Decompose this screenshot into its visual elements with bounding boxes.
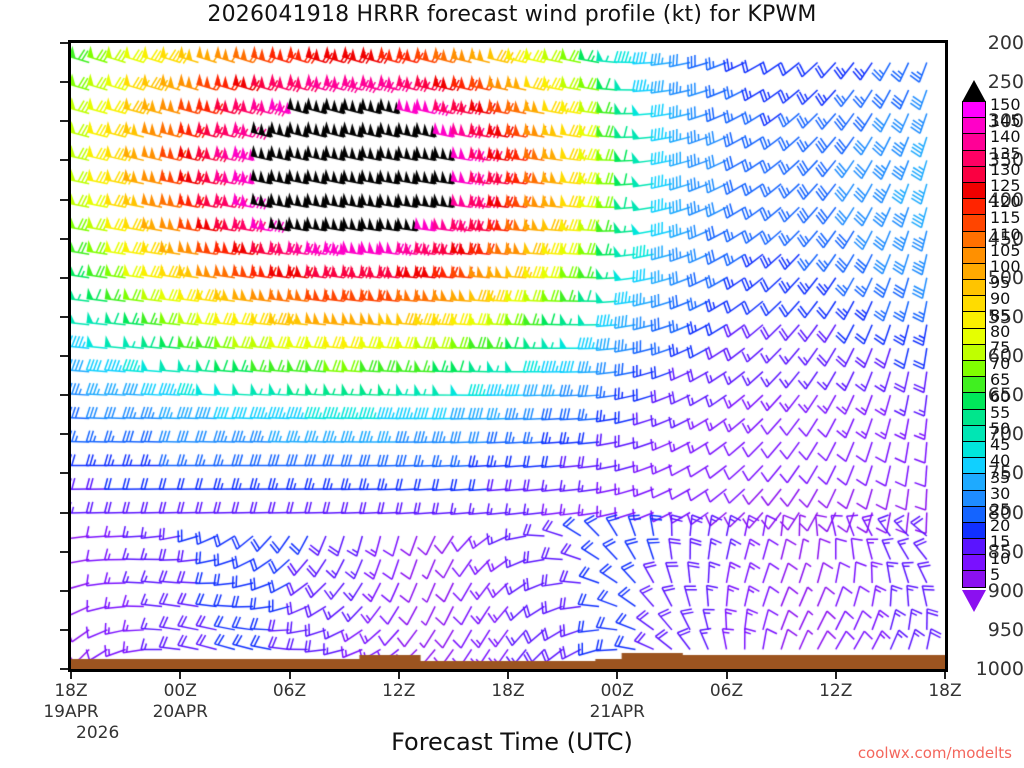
terrain-band <box>71 651 945 669</box>
colorbar-cell <box>962 279 986 296</box>
x-tick-mark <box>398 672 400 679</box>
y-tick-label: 200 <box>962 32 1024 54</box>
y-tick-mark <box>60 316 68 318</box>
y-tick-mark <box>60 551 68 553</box>
colorbar-cell <box>962 247 986 264</box>
y-tick-mark <box>60 433 68 435</box>
colorbar-cell <box>962 150 986 167</box>
y-tick-mark <box>60 394 68 396</box>
colorbar-cell <box>962 490 986 507</box>
x-tick-label: 18Z <box>491 681 524 701</box>
x-tick-mark <box>179 672 181 679</box>
y-tick-mark <box>60 120 68 122</box>
y-tick-mark <box>60 199 68 201</box>
x-tick-mark <box>944 672 946 679</box>
x-tick-date-label: 19APR <box>43 702 98 722</box>
x-tick-mark <box>507 672 509 679</box>
colorbar-cell <box>962 117 986 134</box>
y-tick-mark <box>60 668 68 670</box>
x-tick-mark <box>616 672 618 679</box>
colorbar-cell <box>962 133 986 150</box>
colorbar-cell <box>962 328 986 345</box>
y-tick-mark <box>60 629 68 631</box>
colorbar-cell <box>962 295 986 312</box>
y-tick-mark <box>60 472 68 474</box>
colorbar-cell <box>962 101 986 118</box>
y-tick-mark <box>60 81 68 83</box>
colorbar-cell <box>962 311 986 328</box>
x-tick-label: 00Z <box>601 681 634 701</box>
x-tick-label: 12Z <box>819 681 852 701</box>
colorbar-cell <box>962 570 986 587</box>
colorbar-cell <box>962 538 986 555</box>
colorbar-tick-label: 5 <box>990 565 1000 584</box>
x-tick-mark <box>289 672 291 679</box>
y-tick-mark <box>60 512 68 514</box>
colorbar-cell <box>962 425 986 442</box>
colorbar-cell <box>962 409 986 426</box>
colorbar-cell <box>962 231 986 248</box>
colorbar-cell <box>962 344 986 361</box>
wind-profile-chart: 2026041918 HRRR forecast wind profile (k… <box>0 0 1024 768</box>
x-tick-label: 00Z <box>164 681 197 701</box>
colorbar-under-arrow-icon <box>962 590 986 612</box>
x-tick-mark <box>835 672 837 679</box>
x-tick-date-label: 20APR <box>153 702 208 722</box>
plot-area <box>68 40 948 672</box>
colorbar-cell <box>962 376 986 393</box>
colorbar-cell <box>962 360 986 377</box>
y-tick-mark <box>60 355 68 357</box>
colorbar-cells <box>962 102 986 588</box>
y-tick-mark <box>60 238 68 240</box>
x-tick-label: 18Z <box>54 681 87 701</box>
y-tick-mark <box>60 159 68 161</box>
colorbar-cell <box>962 554 986 571</box>
colorbar-cell <box>962 198 986 215</box>
y-tick-label: 1000 <box>962 658 1024 680</box>
page-title: 2026041918 HRRR forecast wind profile (k… <box>0 2 1024 27</box>
colorbar-cell <box>962 263 986 280</box>
colorbar-over-arrow-icon <box>962 80 986 102</box>
wind-barb-field <box>71 43 945 669</box>
x-tick-label: 06Z <box>710 681 743 701</box>
x-tick-date-label: 21APR <box>590 702 645 722</box>
colorbar-cell <box>962 392 986 409</box>
colorbar-cell <box>962 522 986 539</box>
colorbar-cell <box>962 457 986 474</box>
x-tick-label: 06Z <box>273 681 306 701</box>
x-tick-label: 12Z <box>382 681 415 701</box>
colorbar-cell <box>962 506 986 523</box>
colorbar-cell <box>962 182 986 199</box>
x-tick-mark <box>726 672 728 679</box>
y-tick-mark <box>60 590 68 592</box>
watermark-link[interactable]: coolwx.com/modelts <box>858 744 1012 762</box>
colorbar-cell <box>962 214 986 231</box>
y-tick-mark <box>60 277 68 279</box>
colorbar-cell <box>962 441 986 458</box>
colorbar-cell <box>962 166 986 183</box>
x-tick-mark <box>70 672 72 679</box>
x-tick-label: 18Z <box>928 681 961 701</box>
y-tick-mark <box>60 42 68 44</box>
colorbar: 1501451401351301251201151101051009590858… <box>958 78 1024 648</box>
colorbar-cell <box>962 473 986 490</box>
